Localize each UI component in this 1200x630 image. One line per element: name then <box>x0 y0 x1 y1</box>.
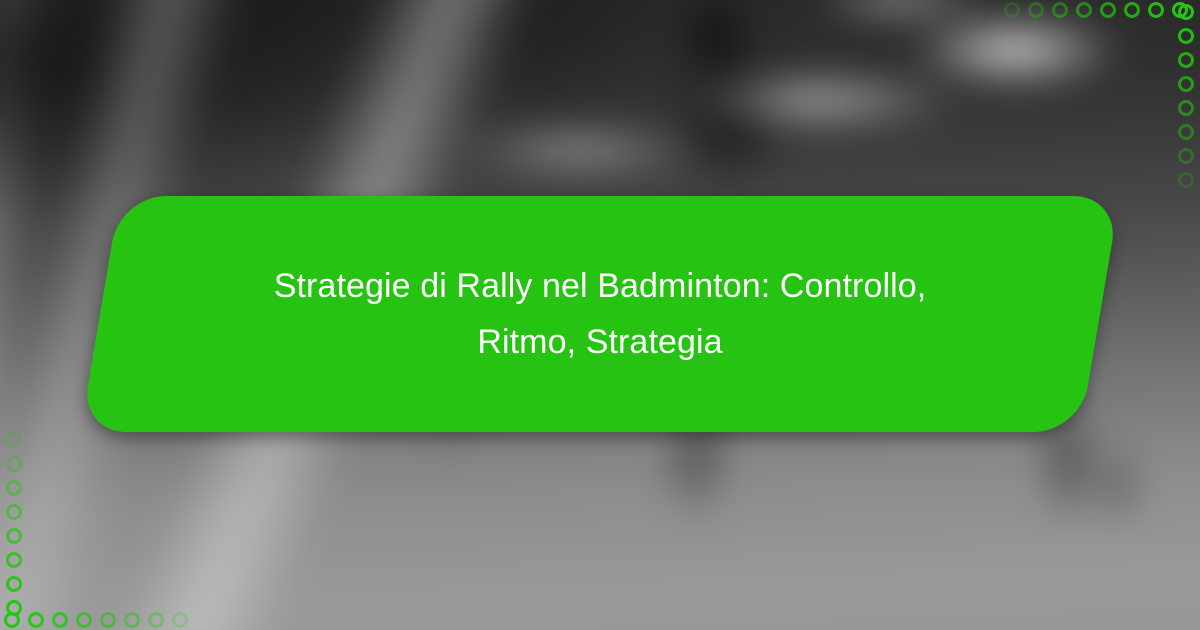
dot-ornament <box>1178 148 1194 164</box>
dot-ornament <box>6 504 22 520</box>
dot-ornament <box>1004 2 1020 18</box>
dot-ornament <box>1178 28 1194 44</box>
dot-column-left <box>6 432 22 624</box>
dot-ornament <box>1028 2 1044 18</box>
dot-ornament <box>6 576 22 592</box>
dot-ornament <box>1178 172 1194 188</box>
dot-column-right <box>1178 4 1194 196</box>
dot-ornament <box>1178 52 1194 68</box>
page-title-line-2: Ritmo, Strategia <box>477 314 722 370</box>
dot-ornament <box>6 528 22 544</box>
dot-ornament <box>6 432 22 448</box>
dot-ornament <box>148 612 164 628</box>
dot-ornament <box>1052 2 1068 18</box>
title-banner: Strategie di Rally nel Badminton: Contro… <box>100 196 1100 432</box>
dot-ornament <box>1148 2 1164 18</box>
dot-ornament <box>6 600 22 616</box>
dot-row-bottom-left <box>4 612 196 628</box>
dot-ornament <box>1100 2 1116 18</box>
title-banner-text: Strategie di Rally nel Badminton: Contro… <box>100 196 1100 432</box>
dot-ornament <box>124 612 140 628</box>
dot-ornament <box>1076 2 1092 18</box>
dot-ornament <box>1178 124 1194 140</box>
dot-ornament <box>28 612 44 628</box>
dot-ornament <box>6 480 22 496</box>
page-title-line-1: Strategie di Rally nel Badminton: Contro… <box>274 258 927 314</box>
dot-ornament <box>6 456 22 472</box>
dot-ornament <box>1178 4 1194 20</box>
dot-ornament <box>1178 100 1194 116</box>
dot-ornament <box>76 612 92 628</box>
dot-ornament <box>52 612 68 628</box>
og-image-card: Strategie di Rally nel Badminton: Contro… <box>0 0 1200 630</box>
dot-ornament <box>172 612 188 628</box>
dot-ornament <box>6 552 22 568</box>
dot-ornament <box>1124 2 1140 18</box>
dot-ornament <box>100 612 116 628</box>
dot-ornament <box>1178 76 1194 92</box>
dot-row-top-right <box>1004 2 1196 18</box>
